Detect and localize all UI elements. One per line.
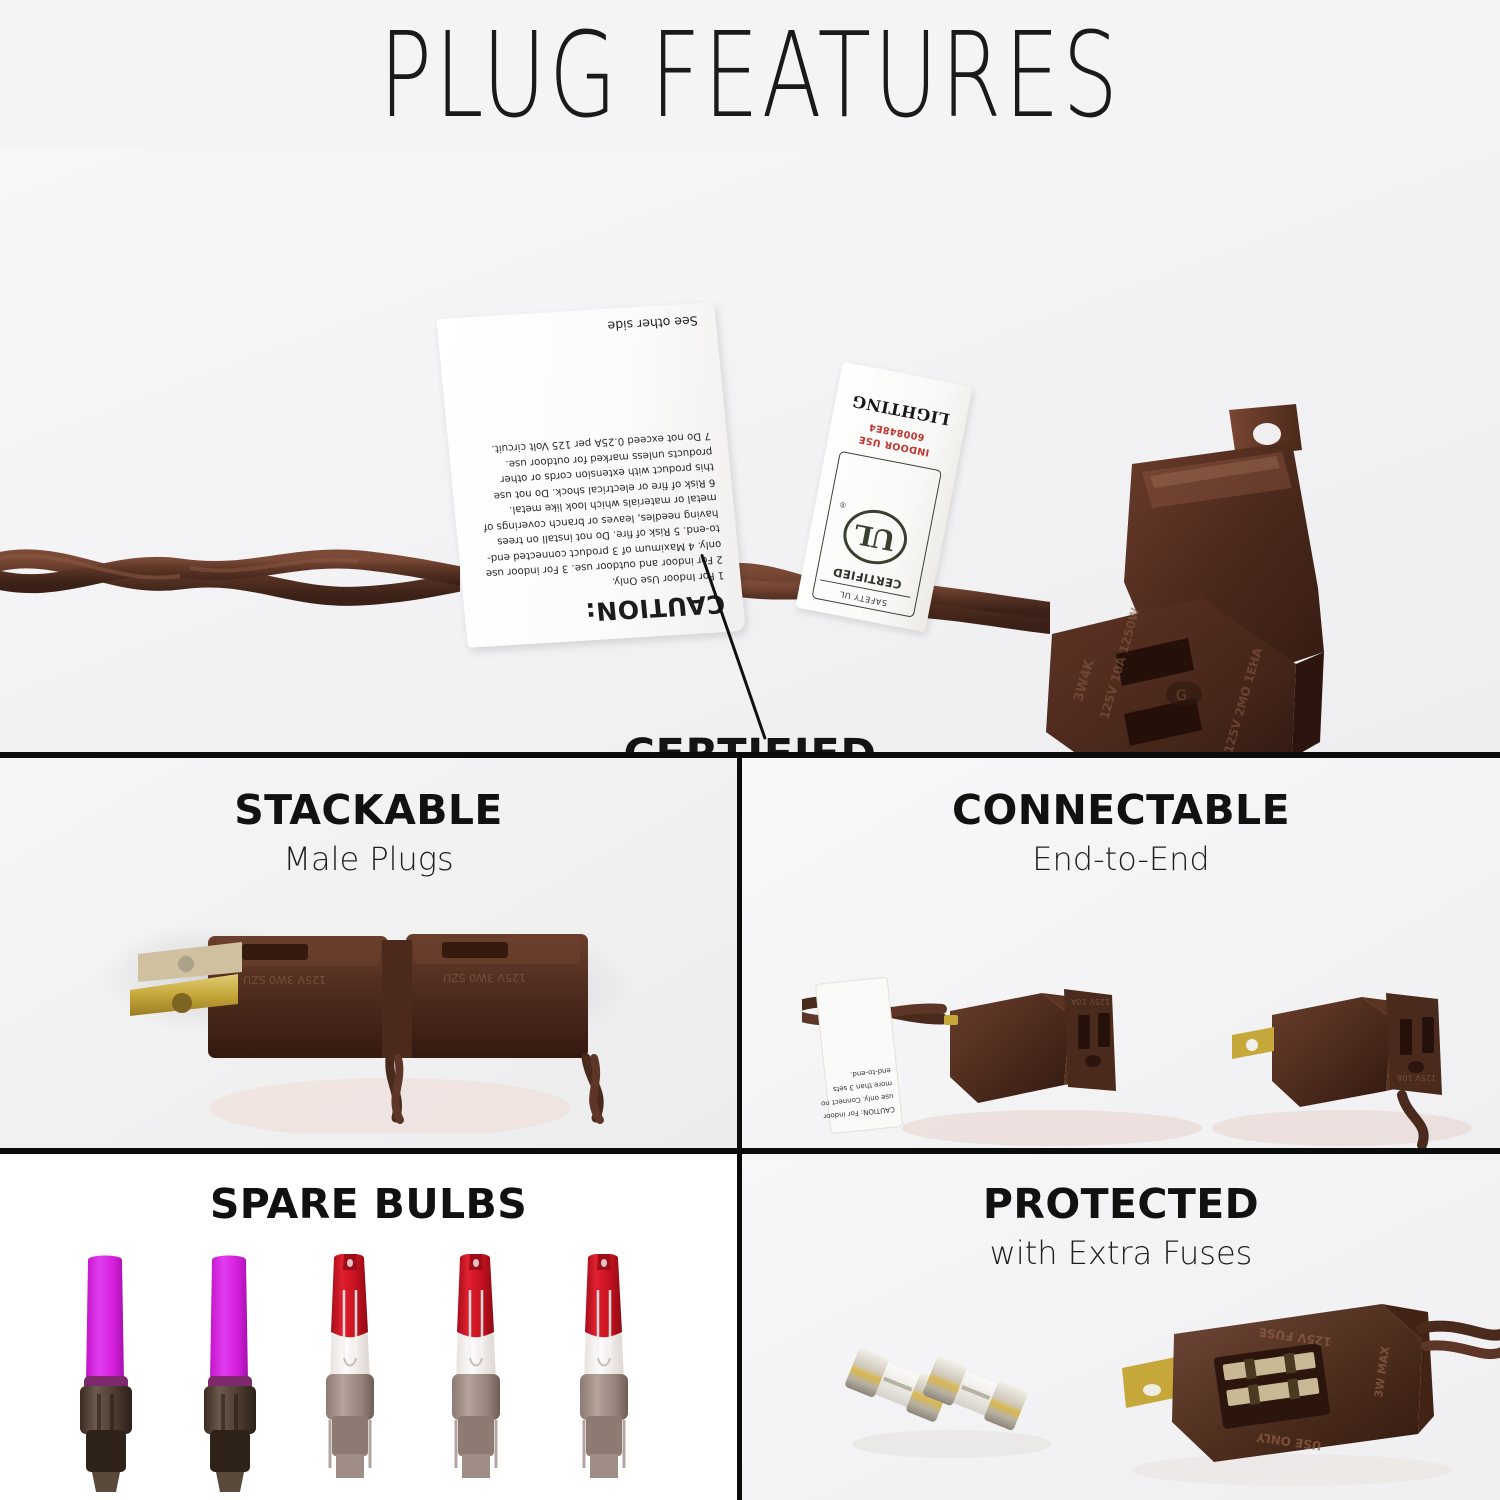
panel-protected: PROTECTED with Extra Fuses bbox=[742, 1154, 1500, 1500]
caution-tag: CAUTION: 1 For Indoor Use Only. 2 For in… bbox=[436, 302, 745, 647]
bulb-magenta-1 bbox=[80, 1256, 132, 1493]
panel-connectable: CONNECTABLE End-to-End CAUTION: For ind bbox=[742, 758, 1500, 1148]
twisted-wire-left bbox=[0, 538, 460, 614]
panel-stackable-title: STACKABLE bbox=[0, 786, 737, 834]
panel-stackable-subtitle: Male Plugs bbox=[0, 840, 737, 878]
connectable-sockets-image: CAUTION: For indoor use only. Connect no… bbox=[802, 953, 1482, 1148]
panel-protected-title: PROTECTED bbox=[742, 1180, 1500, 1228]
page-title: PLUG FEATURES bbox=[379, 6, 1121, 144]
caution-lines: 1 For Indoor Use Only. 2 For indoor and … bbox=[462, 428, 725, 597]
bulb-red-2 bbox=[452, 1254, 500, 1478]
svg-text:G: G bbox=[1176, 688, 1187, 704]
ul-box: SAFETY UL CERTIFIED UL ® bbox=[811, 451, 942, 618]
panel-protected-subtitle: with Extra Fuses bbox=[742, 1234, 1500, 1272]
panel-stackable: STACKABLE Male Plugs bbox=[0, 758, 737, 1148]
bulb-red-1 bbox=[326, 1254, 374, 1478]
fuse-access-plug: 125V FUSE USE ONLY 3W MAX bbox=[1122, 1304, 1500, 1486]
stacked-male-plugs-image: 125V 3W0 SZU 125V 3W0 SZU bbox=[90, 918, 650, 1133]
hero-panel: CAUTION: 1 For Indoor Use Only. 2 For in… bbox=[0, 150, 1500, 755]
panel-spare-bulbs: SPARE BULBS bbox=[0, 1154, 737, 1500]
plug-molding-a: 125V 3W0 SZU bbox=[243, 973, 326, 986]
socket-molding-1: 125V 10A bbox=[1071, 997, 1110, 1006]
caution-heading: CAUTION: bbox=[584, 589, 726, 626]
female-socket-hero: 3W4K 125V 10A 1250W 125V 2MO 1EHA G bbox=[1024, 402, 1354, 755]
plug-molding-b: 125V 3W0 SZU bbox=[443, 971, 526, 984]
fuse-2 bbox=[922, 1356, 1029, 1432]
caution-footer: See other side bbox=[607, 313, 699, 333]
spare-bulbs-image bbox=[0, 1254, 737, 1500]
ul-logo-icon: UL bbox=[839, 504, 912, 569]
bulb-red-3 bbox=[580, 1254, 628, 1478]
registered-mark: ® bbox=[839, 500, 847, 510]
panel-connectable-subtitle: End-to-End bbox=[742, 840, 1500, 878]
panel-connectable-title: CONNECTABLE bbox=[742, 786, 1500, 834]
infographic-page: PLUG FEATURES CAUTION: bbox=[0, 0, 1500, 1500]
fuses-and-plug-image: 125V FUSE USE ONLY 3W MAX bbox=[822, 1294, 1500, 1494]
title-bar: PLUG FEATURES bbox=[0, 0, 1500, 150]
ul-mark: UL bbox=[852, 518, 898, 556]
bulb-magenta-2 bbox=[204, 1256, 256, 1493]
socket-molding-2: 125V 10A bbox=[1397, 1073, 1436, 1082]
panel-bulbs-title: SPARE BULBS bbox=[0, 1180, 737, 1228]
